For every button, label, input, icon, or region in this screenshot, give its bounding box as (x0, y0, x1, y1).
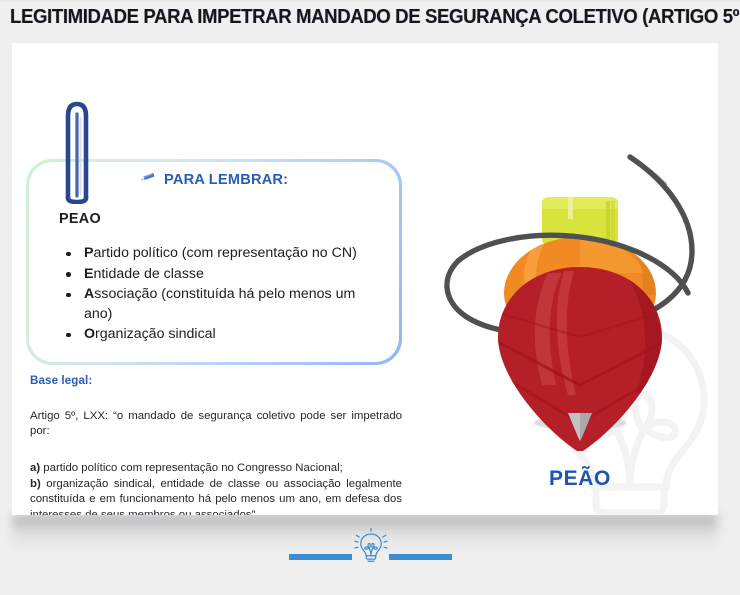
list-item: Organização sindical (64, 325, 382, 345)
page-title: LEGITIMIDADE PARA IMPETRAR MANDADO DE SE… (10, 5, 667, 29)
item-text: ntidade de classe (93, 266, 203, 282)
item-initial: O (84, 326, 95, 342)
footer-brand-mark (0, 528, 740, 558)
base-legal-item-b: b) organização sindical, entidade de cla… (30, 478, 402, 515)
top-knob (542, 197, 618, 245)
list-item: Partido político (com representação no C… (64, 244, 382, 264)
spinning-top-illustration (430, 141, 718, 453)
item-text: rganização sindical (95, 326, 216, 342)
top-dome (504, 237, 656, 327)
footer-rule-left (289, 554, 352, 560)
item-marker: a) (30, 462, 40, 474)
item-body: partido político com representação no Co… (40, 462, 343, 474)
callout-heading-label: PARA LEMBRAR: (164, 172, 288, 188)
footer-rule-right (389, 554, 452, 560)
item-body: organização sindical, entidade de classe… (30, 478, 402, 515)
title-top-accent (0, 0, 740, 2)
pencil-icon (140, 172, 155, 185)
item-text: ssociação (constituída há pelo menos um … (84, 286, 355, 322)
list-item: Associação (constituída há pelo menos um… (64, 285, 382, 324)
base-legal-item-a: a) partido político com representação no… (30, 461, 402, 477)
top-ground-shadow (534, 416, 626, 430)
list-item: Entidade de classe (64, 265, 382, 285)
title-bar: LEGITIMIDADE PARA IMPETRAR MANDADO DE SE… (0, 0, 740, 38)
base-legal-quote: Artigo 5º, LXX: “o mandado de segurança … (30, 409, 402, 440)
para-lembrar-callout: PARA LEMBRAR: PEAO Partido político (com… (26, 159, 402, 365)
item-marker: b) (30, 478, 41, 490)
item-initial: A (84, 286, 94, 302)
top-tip (568, 413, 592, 441)
content-card: PEÃO PARA LEMBRAR: PEAO (12, 43, 718, 515)
slide-root: LEGITIMIDADE PARA IMPETRAR MANDADO DE SE… (0, 0, 740, 595)
callout-acronym: PEAO (59, 211, 101, 227)
base-legal-items: a) partido político com representação no… (30, 461, 402, 515)
swoosh-back-taper (630, 157, 666, 184)
top-body (492, 267, 670, 451)
swoosh-back (447, 157, 692, 334)
swoosh-front (458, 235, 688, 293)
callout-heading: PARA LEMBRAR: (26, 172, 402, 188)
callout-item-list: Partido político (com representação no C… (64, 244, 382, 346)
item-text: artido político (com representação no CN… (93, 245, 356, 261)
base-legal-heading: Base legal: (30, 374, 92, 387)
footer: Preparação Eficiente (0, 522, 740, 595)
illustration-label: PEÃO (430, 467, 718, 491)
lightbulb-icon (352, 528, 390, 564)
